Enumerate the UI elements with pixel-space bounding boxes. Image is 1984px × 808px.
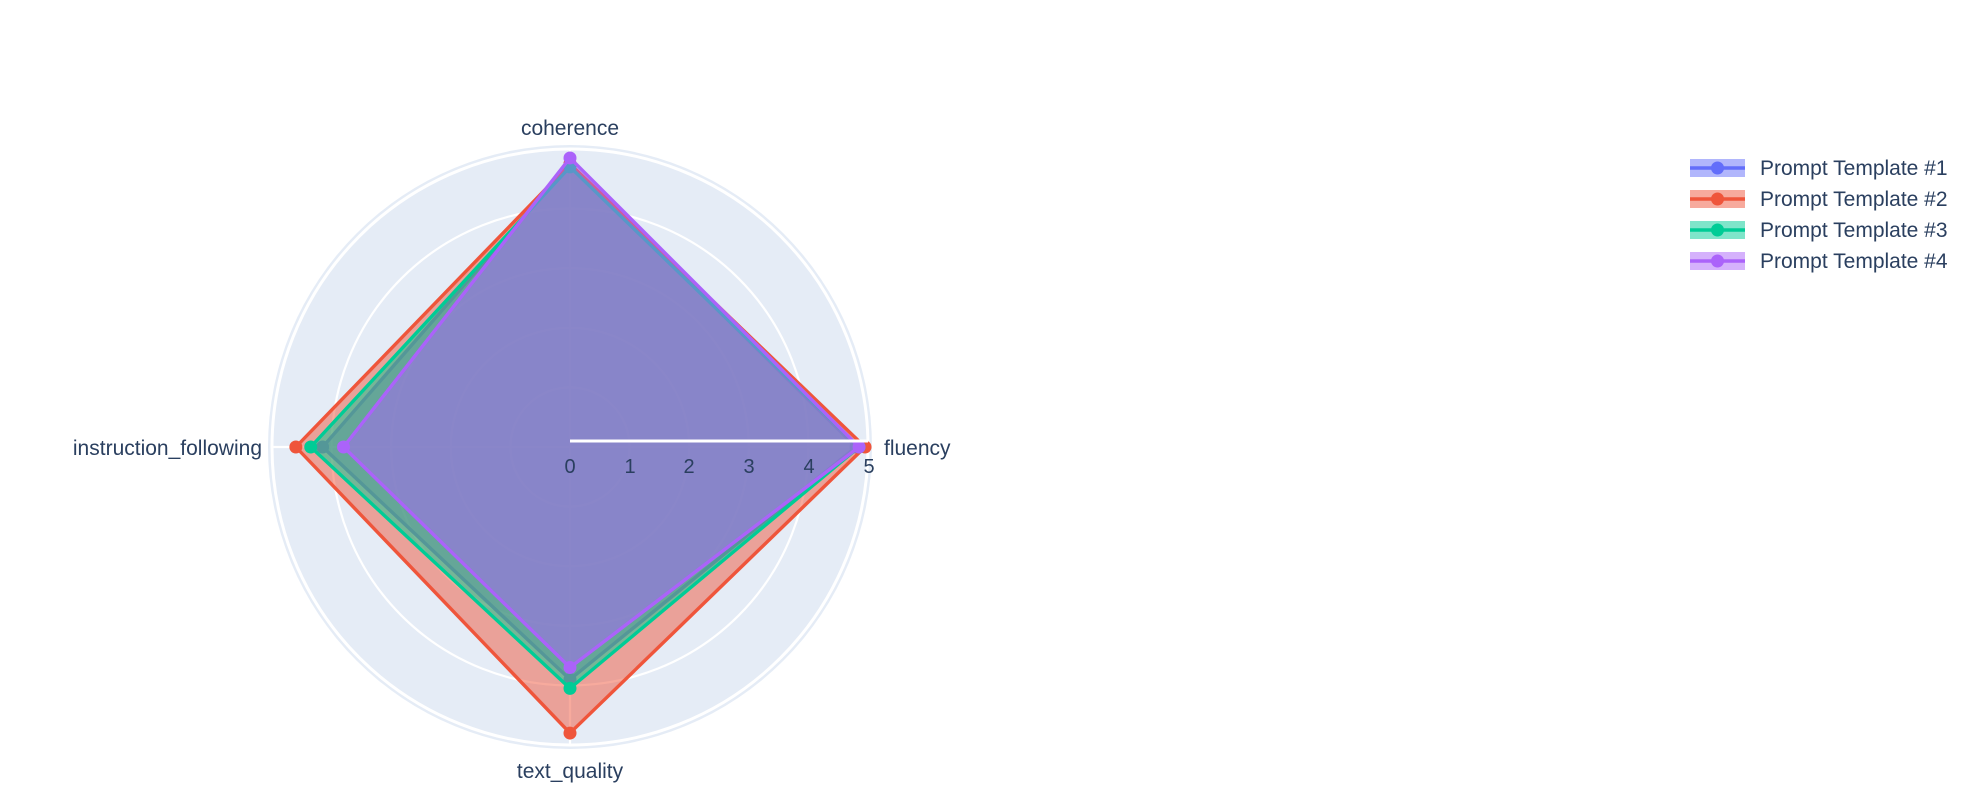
marker-2-text_quality [564, 727, 577, 740]
legend-swatch-marker-2 [1711, 193, 1724, 206]
legend-swatch-marker-3 [1711, 224, 1724, 237]
radial-tick-0: 0 [564, 456, 575, 478]
marker-4-instruction_following [337, 441, 350, 454]
marker-3-text_quality [564, 682, 577, 695]
legend-label-1: Prompt Template #1 [1760, 157, 1948, 180]
legend-swatch-marker-1 [1711, 162, 1724, 175]
marker-4-text_quality [564, 661, 577, 674]
radar-chart-figure: 0 1 2 3 4 5 coherence fluency text_quali… [0, 0, 1984, 808]
marker-2-instruction_following [289, 441, 302, 454]
radial-tick-4: 4 [803, 456, 814, 478]
legend-item-4[interactable]: Prompt Template #4 [1690, 250, 1948, 273]
legend-item-1[interactable]: Prompt Template #1 [1690, 157, 1948, 180]
category-label-coherence: coherence [521, 117, 619, 140]
plot-canvas: 0 1 2 3 4 5 coherence fluency text_quali… [0, 0, 1984, 808]
category-label-instruction-following: instruction_following [73, 437, 262, 460]
radial-tick-2: 2 [683, 456, 694, 478]
legend-label-3: Prompt Template #3 [1760, 219, 1948, 242]
category-label-text-quality: text_quality [517, 760, 624, 783]
legend-label-2: Prompt Template #2 [1760, 188, 1948, 211]
legend-swatch-marker-4 [1711, 255, 1724, 268]
category-label-fluency: fluency [884, 437, 951, 460]
legend-item-3[interactable]: Prompt Template #3 [1690, 219, 1948, 242]
radial-tick-3: 3 [743, 456, 754, 478]
marker-3-instruction_following [304, 441, 317, 454]
marker-4-coherence [564, 151, 577, 164]
legend-item-2[interactable]: Prompt Template #2 [1690, 188, 1948, 211]
legend-label-4: Prompt Template #4 [1760, 250, 1948, 273]
radial-tick-5: 5 [863, 456, 874, 478]
radial-tick-1: 1 [624, 456, 635, 478]
